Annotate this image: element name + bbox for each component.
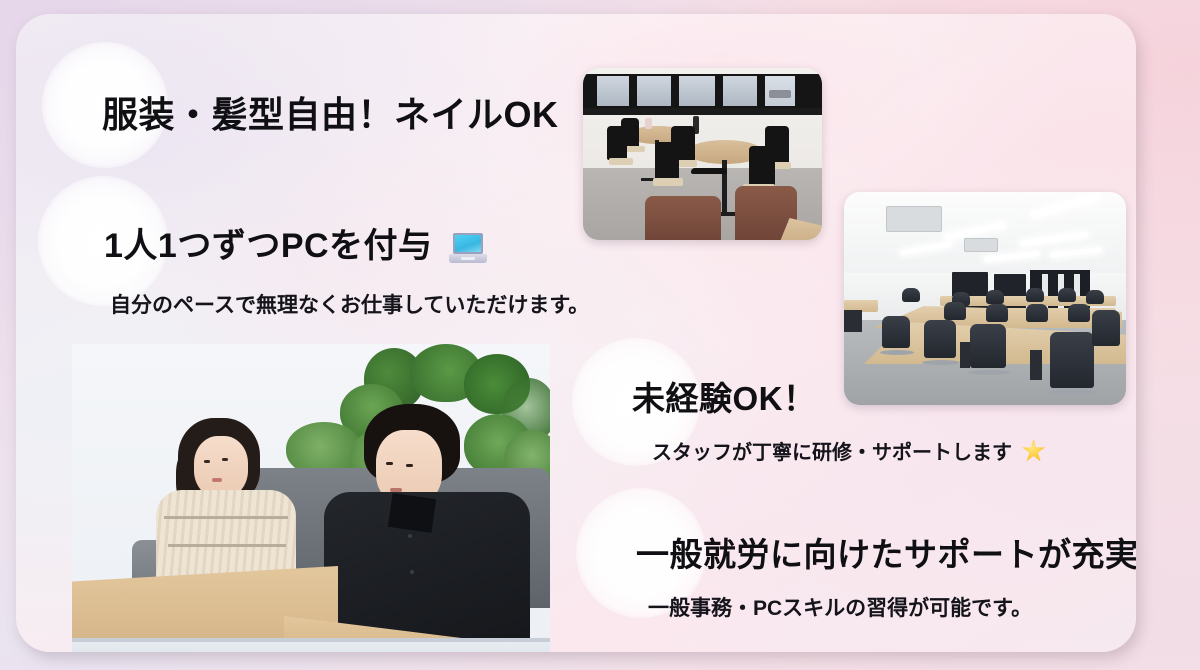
slide-canvas: 服装・髪型自由！ネイルOK 1人1つずつPCを付与 自分のペースで無理なくお仕事… [0,0,1200,670]
content-card: 服装・髪型自由！ネイルOK 1人1つずつPCを付与 自分のペースで無理なくお仕事… [16,14,1136,652]
feature-sub-no-experience-text: スタッフが丁寧に研修・サポートします [652,442,1012,464]
feature-sub-no-experience: スタッフが丁寧に研修・サポートします [652,436,1046,465]
staff-interview-photo [72,344,550,652]
star-emoji [1022,439,1046,463]
feature-headline-own-pc-text: 1人1つずつPCを付与 [104,227,433,265]
feature-sub-employment-support: 一般事務・PCスキルの習得が可能です。 [648,592,1032,622]
feature-headline-own-pc: 1人1つずつPCを付与 [104,218,487,267]
break-room-photo [583,68,822,240]
training-room-photo [844,192,1126,405]
feature-headline-no-experience: 未経験OK！ [632,372,817,420]
feature-headline-employment-support: 一般就労に向けたサポートが充実 [636,528,1136,576]
feature-headline-dress-code: 服装・髪型自由！ネイルOK [102,86,559,138]
feature-sub-own-pc: 自分のペースで無理なくお仕事していただけます。 [110,289,589,319]
laptop-emoji [449,233,487,263]
